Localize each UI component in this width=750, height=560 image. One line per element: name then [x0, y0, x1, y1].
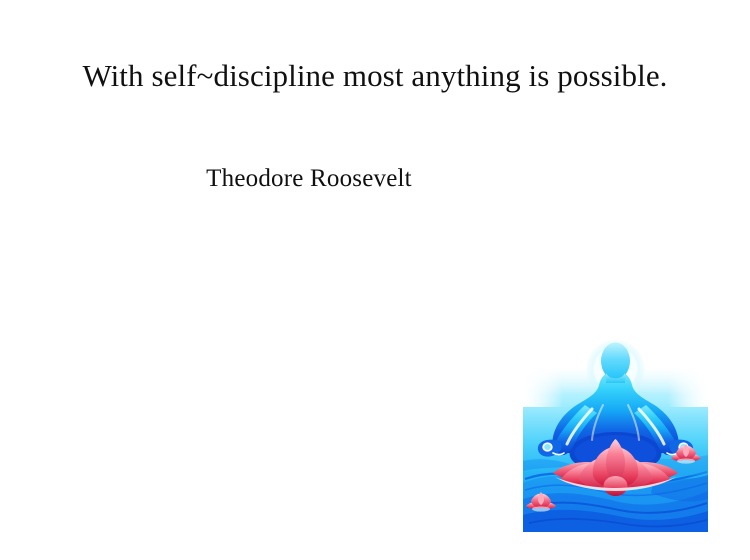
quote-author: Theodore Roosevelt — [0, 163, 618, 195]
figure-head — [601, 343, 630, 380]
quote-text: With self~discipline most anything is po… — [0, 56, 750, 96]
quote-card: With self~discipline most anything is po… — [0, 0, 750, 560]
meditation-illustration — [523, 333, 708, 532]
